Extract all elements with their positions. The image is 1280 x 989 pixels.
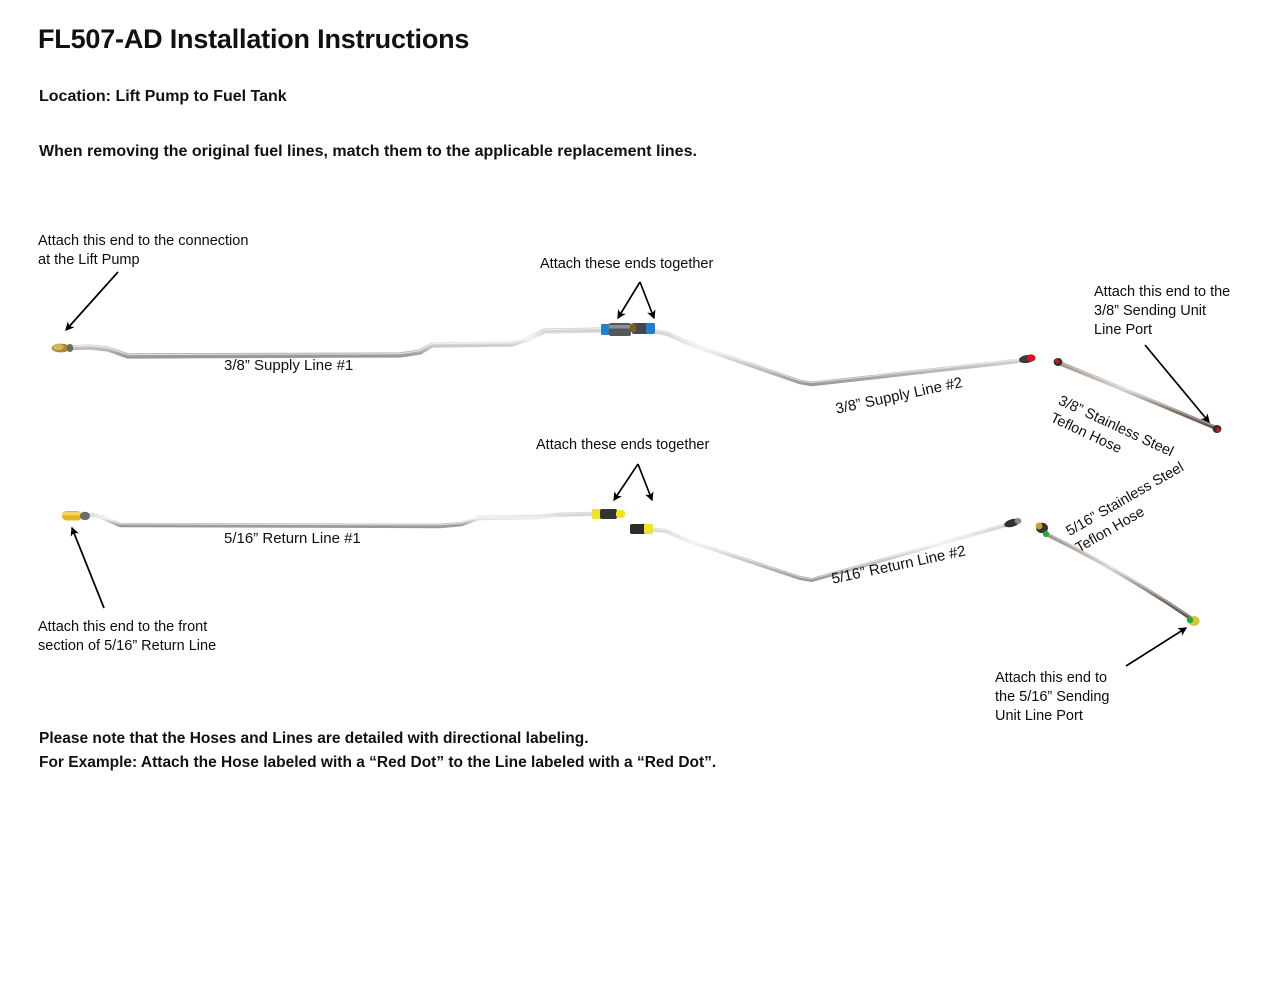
return-line-2-connector	[630, 524, 653, 534]
arrow-front-return	[72, 528, 104, 608]
arrow-sending-unit-516	[1126, 628, 1186, 666]
annotation-arrows	[66, 272, 1209, 666]
arrow-supply-join-left	[618, 282, 640, 318]
supply-line-2-sending-unit-end	[1019, 354, 1036, 364]
supply-line-2-connector	[629, 323, 655, 334]
page-title: FL507-AD Installation Instructions	[38, 24, 469, 55]
footer-note: Please note that the Hoses and Lines are…	[39, 727, 716, 775]
label-teflon-hose-38: 3/8” Stainless Steel Teflon Hose	[1047, 392, 1176, 479]
callout-lift-pump: Attach this end to the connection at the…	[38, 232, 248, 270]
part-supply-line-2	[629, 323, 1035, 384]
part-teflon-hose-516	[1036, 523, 1200, 626]
teflon-hose-516-end-fittings	[1036, 523, 1200, 626]
location-line: Location: Lift Pump to Fuel Tank	[39, 88, 287, 106]
instruction-sheet: FL507-AD Installation Instructions Locat…	[0, 0, 1280, 989]
arrow-return-join-right	[638, 464, 652, 500]
label-teflon-hose-516: 5/16” Stainless Steel Teflon Hose	[1063, 459, 1197, 558]
part-return-line-1	[62, 509, 625, 526]
arrow-lift-pump	[66, 272, 118, 330]
label-return-line-1: 5/16” Return Line #1	[224, 530, 361, 547]
arrow-sending-unit-38	[1145, 345, 1209, 422]
supply-line-1-connector	[601, 323, 631, 336]
part-supply-line-1	[52, 323, 632, 356]
callout-sending-unit-516: Attach this end to the 5/16” Sending Uni…	[995, 669, 1109, 726]
return-line-1-connector	[592, 509, 625, 519]
matching-instruction-line: When removing the original fuel lines, m…	[39, 143, 697, 161]
callout-sending-unit-38: Attach this end to the 3/8” Sending Unit…	[1094, 283, 1230, 340]
callout-supply-join: Attach these ends together	[540, 255, 713, 274]
label-supply-line-1: 3/8” Supply Line #1	[224, 357, 353, 374]
arrow-return-join-left	[614, 464, 638, 500]
arrow-supply-join-right	[640, 282, 654, 318]
callout-front-return-line: Attach this end to the front section of …	[38, 618, 216, 656]
label-return-line-2: 5/16” Return Line #2	[830, 543, 967, 588]
label-supply-line-2: 3/8” Supply Line #2	[834, 374, 964, 418]
supply-line-1-lift-pump-fitting	[52, 344, 74, 353]
return-line-2-sending-unit-end	[1003, 517, 1021, 529]
return-line-1-front-fitting	[62, 511, 90, 521]
callout-return-join: Attach these ends together	[536, 436, 709, 455]
